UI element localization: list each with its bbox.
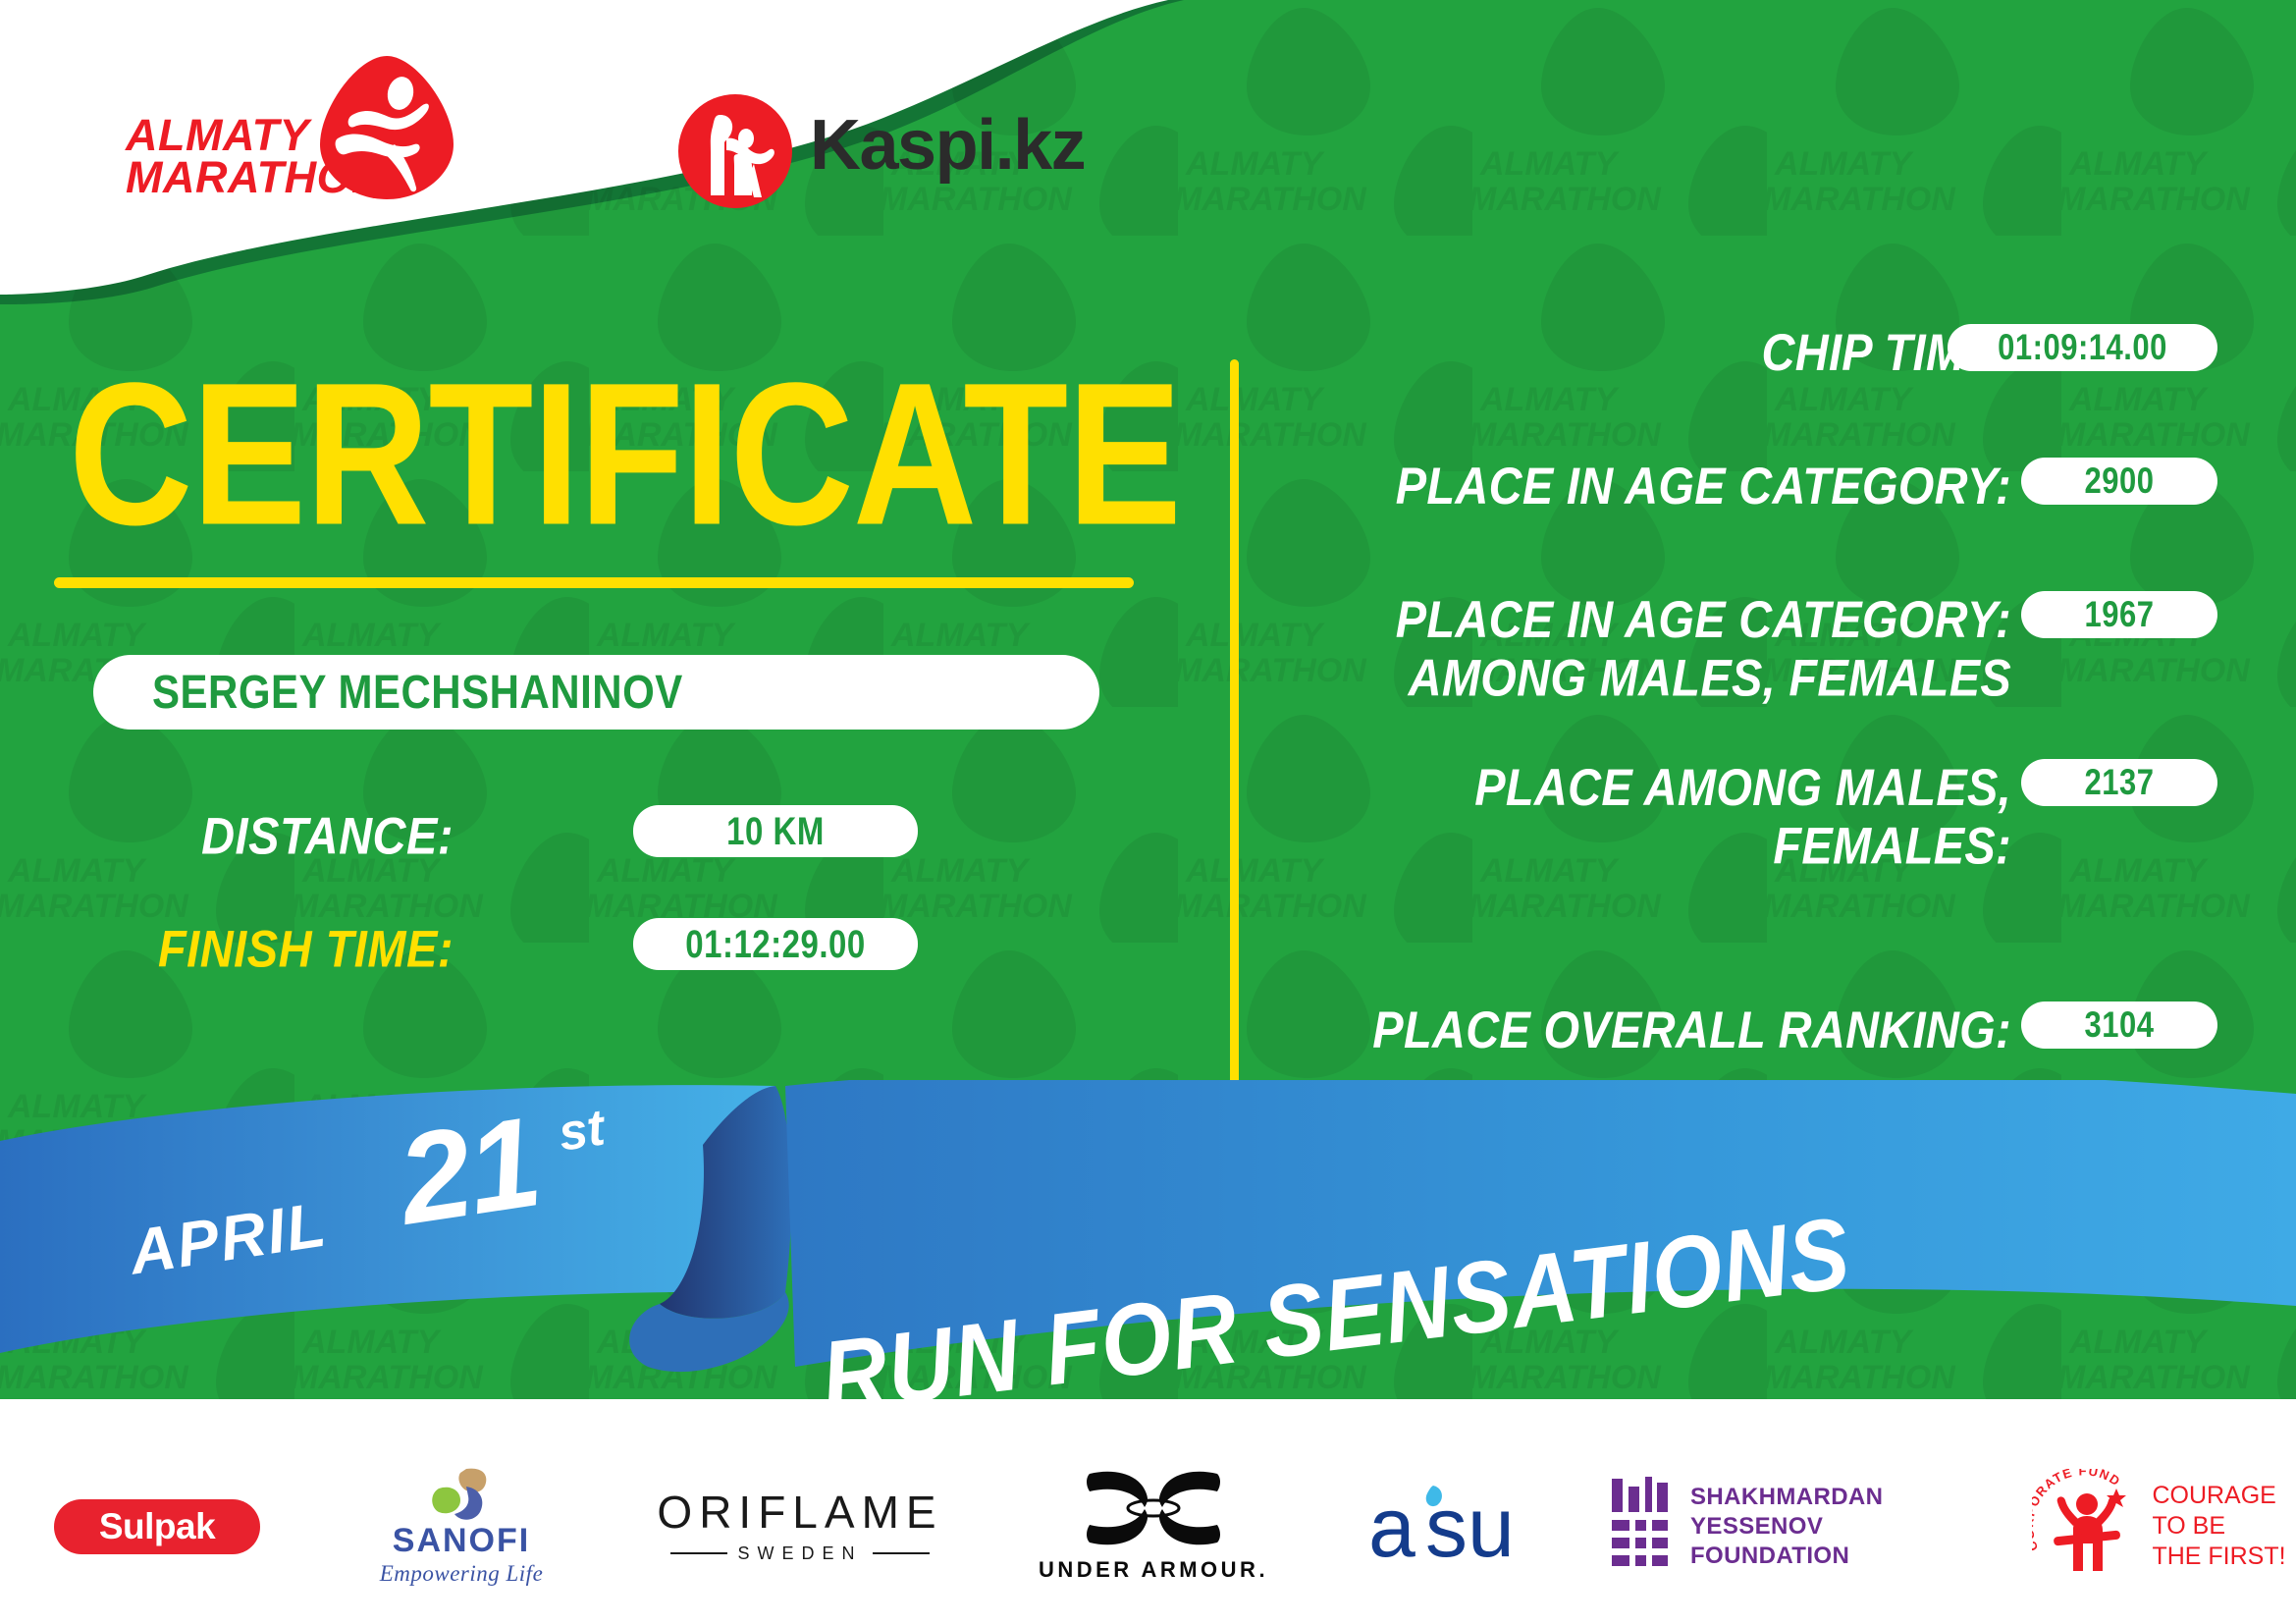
sanofi-mark-icon (363, 1467, 560, 1522)
sanofi-wordmark: SANOFI (363, 1524, 560, 1557)
result-value: 2900 (2085, 460, 2155, 502)
sponsor-sulpak: Sulpak (0, 1458, 314, 1596)
distance-label: DISTANCE: (201, 805, 454, 866)
result-label: PLACE OVERALL RANKING: (1372, 1001, 2011, 1059)
kaspi-people-circle-icon (677, 93, 793, 209)
oriflame-rule-left (670, 1552, 727, 1554)
participant-name-value: SERGEY MECHSHANINOV (152, 665, 683, 719)
result-label: PLACE AMONG MALES, FEMALES: (1474, 759, 2011, 875)
svg-text:a: a (1368, 1482, 1415, 1572)
under-armour-logo: UNDER ARMOUR. (1039, 1470, 1268, 1583)
header: ALMATY MARATHON (0, 0, 1266, 285)
result-value-pill: 2137 (2021, 759, 2217, 806)
kaspi-logo: Kaspi.kz (677, 93, 1109, 206)
sanofi-logo: SANOFI Empowering Life (363, 1467, 560, 1587)
event-date-day-suffix: st (555, 1098, 609, 1163)
sulpak-wordmark: Sulpak (99, 1506, 215, 1547)
title-divider (54, 577, 1134, 588)
runner-droplet-icon (318, 54, 455, 201)
oriflame-logo: ORIFLAME SWEDEN (657, 1489, 942, 1564)
finish-time-label: FINISH TIME: (158, 918, 454, 979)
sponsor-asu: a su (1315, 1458, 1610, 1596)
under-armour-wordmark: UNDER ARMOUR. (1039, 1557, 1268, 1583)
oriflame-wordmark: ORIFLAME (657, 1489, 942, 1535)
finish-time-value-pill: 01:12:29.00 (633, 918, 918, 970)
distance-row: DISTANCE: 10 KM (0, 805, 1173, 864)
result-label: PLACE IN AGE CATEGORY: AMONG MALES, FEMA… (1396, 591, 2011, 707)
sponsor-oriflame: ORIFLAME SWEDEN (609, 1458, 991, 1596)
result-value: 2137 (2085, 761, 2155, 803)
under-armour-icon (1039, 1470, 1268, 1551)
result-value-pill: 01:09:14.00 (1948, 324, 2217, 371)
result-label: PLACE IN AGE CATEGORY: (1396, 458, 2011, 515)
courage-fund-wordmark: COURAGE TO BE THE FIRST! (2152, 1481, 2285, 1573)
sponsor-courage-fund: CORPORATE FUND COURAGE TO BE THE FIRST! (2022, 1458, 2296, 1596)
result-value: 01:09:14.00 (1998, 326, 2167, 368)
sponsor-yessenov-foundation: SHAKHMARDAN YESSENOV FOUNDATION (1610, 1458, 2022, 1596)
sulpak-logo: Sulpak (54, 1499, 260, 1554)
distance-value-pill: 10 KM (633, 805, 918, 857)
courage-runner-icon: CORPORATE FUND (2032, 1469, 2140, 1584)
sponsor-sanofi: SANOFI Empowering Life (314, 1458, 609, 1596)
oriflame-rule-right (873, 1552, 930, 1554)
result-value-pill: 2900 (2021, 458, 2217, 505)
participant-name-field: SERGEY MECHSHANINOV (93, 655, 1099, 730)
distance-value: 10 KM (726, 809, 825, 854)
almaty-marathon-logo: ALMATY MARATHON (126, 54, 450, 211)
yessenov-bars-icon (1610, 1477, 1671, 1576)
vertical-divider (1230, 359, 1239, 1101)
event-date-day: 21 (390, 1087, 548, 1253)
asu-logo: a su (1364, 1482, 1561, 1572)
result-value-pill: 3104 (2021, 1001, 2217, 1049)
sponsor-under-armour: UNDER ARMOUR. (991, 1458, 1315, 1596)
oriflame-sub: SWEDEN (657, 1543, 942, 1564)
yessenov-foundation-wordmark: SHAKHMARDAN YESSENOV FOUNDATION (1690, 1483, 2022, 1571)
finish-time-value: 01:12:29.00 (685, 922, 865, 967)
result-value: 1967 (2085, 593, 2155, 635)
page-title: CERTIFICATE (69, 353, 1181, 557)
yessenov-foundation-logo: SHAKHMARDAN YESSENOV FOUNDATION (1610, 1477, 2022, 1576)
kaspi-wordmark: Kaspi.kz (810, 105, 1085, 186)
result-value-pill: 1967 (2021, 591, 2217, 638)
certificate-canvas: ALMATY MARATHON (0, 0, 2296, 1624)
courage-fund-logo: CORPORATE FUND COURAGE TO BE THE FIRST! (2032, 1469, 2285, 1584)
sponsor-strip: Sulpak SANOFI Empowering Life ORIFLAME (0, 1429, 2296, 1624)
sanofi-tagline: Empowering Life (363, 1561, 560, 1587)
result-value: 3104 (2085, 1003, 2155, 1046)
oriflame-sub-label: SWEDEN (737, 1543, 862, 1564)
finish-time-row: FINISH TIME: 01:12:29.00 (0, 918, 1173, 977)
